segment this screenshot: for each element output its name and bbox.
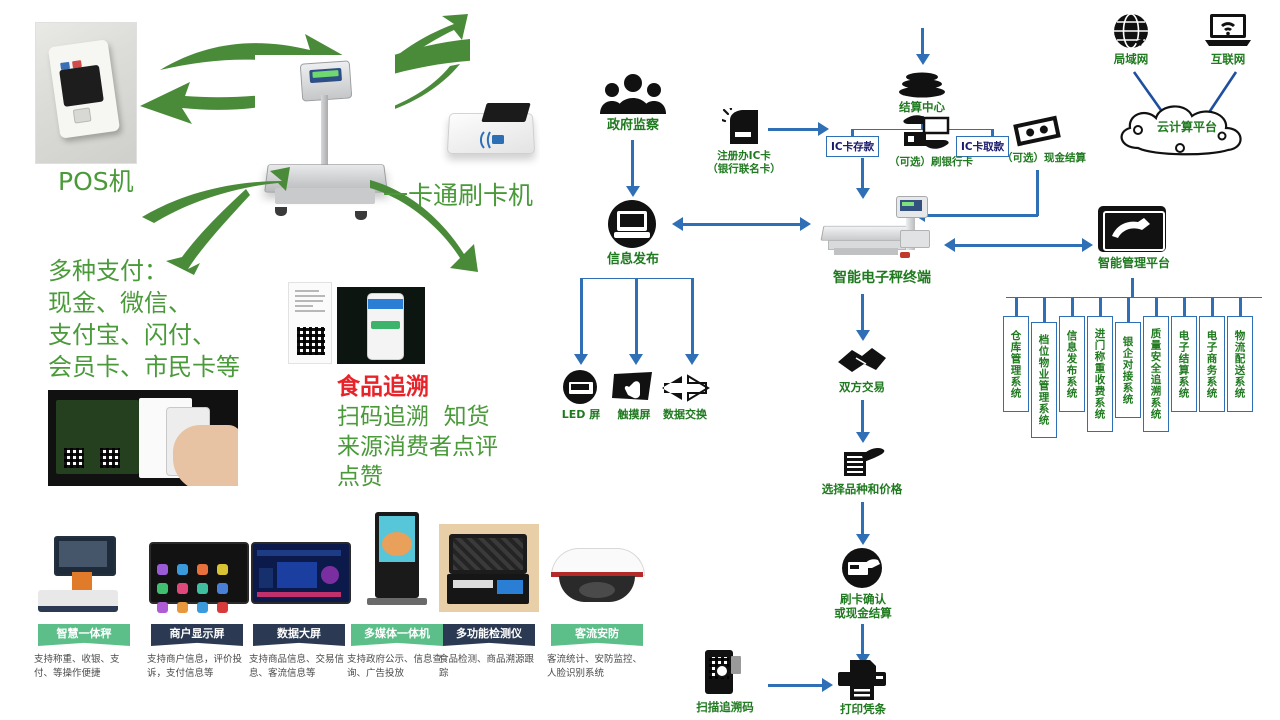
cash-banknote-icon xyxy=(1012,114,1062,148)
receipt-qr-code xyxy=(297,327,325,355)
bracket-drop-right xyxy=(691,278,694,356)
food-traceability-block: 食品追溯 扫码追溯 知货 来源消费者点评 点赞 xyxy=(337,372,498,492)
system-box[interactable]: 电子商务系统 xyxy=(1199,316,1225,412)
product-badge: 多功能检测仪 xyxy=(443,624,535,646)
product-badge: 多媒体一体机 xyxy=(351,624,443,646)
hand xyxy=(173,425,238,486)
arrow-scale-to-deal xyxy=(861,294,864,332)
product-image xyxy=(32,528,136,614)
traceability-line: 来源消费者点评 xyxy=(337,432,498,462)
product-card: 数据大屏 支持商品信息、交易信息、客流信息等 xyxy=(247,528,351,682)
bank-card-label: （可选）刷银行卡 xyxy=(872,156,990,169)
touch-screen-icon xyxy=(612,370,656,404)
systems-drop xyxy=(1127,297,1130,323)
internet-label: 互联网 xyxy=(1200,52,1256,66)
print-receipt-label: 打印凭条 xyxy=(826,702,900,716)
traceability-line: 点赞 xyxy=(337,462,498,492)
product-image xyxy=(145,528,249,614)
payment-line: 支付宝、闪付、 xyxy=(48,319,240,351)
register-ic-card-label: 注册办IC卡 （银行联名卡） xyxy=(692,150,796,176)
arrow-head-left xyxy=(944,238,955,252)
data-exchange-icon xyxy=(660,372,710,404)
info-release-label: 信息发布 xyxy=(588,252,678,268)
product-image xyxy=(437,522,541,614)
arrow-head-down xyxy=(856,330,870,341)
pos-keypad xyxy=(59,50,96,66)
product-image xyxy=(345,512,449,614)
pos-scanner-slot xyxy=(72,107,91,123)
product-description: 食品检测、商品溯源跟踪 xyxy=(437,653,541,682)
product-card: 智慧一体秤 支持称重、收银、支付、等操作便捷 xyxy=(32,528,136,682)
phone-pay-button xyxy=(371,321,401,329)
pos-machine-photo xyxy=(35,22,137,164)
system-box[interactable]: 信息发布系统 xyxy=(1059,316,1085,412)
system-box[interactable]: 电子结算系统 xyxy=(1171,316,1197,412)
scale-display-screen xyxy=(309,69,342,83)
swipe-confirm-icon xyxy=(842,548,882,588)
arrow-into-settlement xyxy=(921,28,924,56)
tablet-qr-code xyxy=(100,448,120,468)
systems-drop xyxy=(1239,297,1242,317)
scan-trace-code-icon xyxy=(705,650,741,696)
arrow-register-to-icdeposit xyxy=(768,128,820,131)
arrow-choose-to-swipe xyxy=(861,502,864,536)
mobile-payment-photo xyxy=(337,287,425,364)
government-label: 政府监察 xyxy=(588,118,678,134)
systems-drop xyxy=(1015,297,1018,317)
system-box[interactable]: 档位物业管理系统 xyxy=(1031,322,1057,438)
government-people-icon xyxy=(600,72,666,114)
arrow-swipe-to-print xyxy=(861,624,864,656)
arrow-head-left xyxy=(672,217,683,231)
screenshot-root: POS机 一卡通刷卡机 多种支付： 现金、微信、 支付宝、闪付、 会员卡、市民卡… xyxy=(0,0,1280,720)
receipt-photo xyxy=(288,282,332,364)
product-card: 多媒体一体机 支持政府公示、信息查询、广告投放 xyxy=(345,512,449,682)
settlement-center-coins-icon xyxy=(898,72,946,98)
arrow-head-down xyxy=(685,354,699,365)
scan-trace-code-label: 扫描追溯码 xyxy=(687,700,763,714)
phone-app-header xyxy=(368,299,403,309)
systems-drop xyxy=(1211,297,1214,317)
payment-line: 现金、微信、 xyxy=(48,287,240,319)
product-card: 客流安防 客流统计、安防监控、人脸识别系统 xyxy=(545,540,649,682)
arrow-scale-platform xyxy=(955,244,1085,247)
arrow-head-down xyxy=(574,354,588,365)
lan-label: 局域网 xyxy=(1105,52,1157,66)
arrow-head-right xyxy=(1082,238,1093,252)
choose-goods-label: 选择品种和价格 xyxy=(806,482,918,496)
data-exchange-label: 数据交换 xyxy=(654,408,716,422)
lan-globe-icon xyxy=(1112,12,1150,50)
arrow-head-right xyxy=(822,678,833,692)
payment-methods-block: 多种支付： 现金、微信、 支付宝、闪付、 会员卡、市民卡等 xyxy=(48,255,240,383)
systems-drop xyxy=(1099,297,1102,317)
arrow-cash-down xyxy=(1036,170,1039,216)
systems-drop xyxy=(1183,297,1186,317)
smart-scale-terminal-label: 智能电子秤终端 xyxy=(802,270,962,288)
led-screen-label: LED 屏 xyxy=(552,408,610,422)
bracket-drop-left xyxy=(580,278,583,356)
product-badge: 智慧一体秤 xyxy=(38,624,130,646)
product-card: 商户显示屏 支持商户信息，评价投诉，支付信息等 xyxy=(145,528,249,682)
arrow-head-right xyxy=(800,217,811,231)
pos-screen xyxy=(60,64,104,106)
arrow-head-down xyxy=(856,432,870,443)
system-box[interactable]: 仓库管理系统 xyxy=(1003,316,1029,412)
cloud-platform-label: 云计算平台 xyxy=(1132,120,1242,135)
nfc-wave-icon xyxy=(474,126,508,154)
product-description: 支持称重、收银、支付、等操作便捷 xyxy=(32,653,136,682)
bank-card-swipe-icon xyxy=(902,110,950,154)
systems-drop xyxy=(1071,297,1074,317)
system-box[interactable]: 银企对接系统 xyxy=(1115,322,1141,418)
swipe-confirm-label: 刷卡确认 或现金结算 xyxy=(812,592,914,621)
cash-settle-label: （可选）现金结算 xyxy=(984,152,1104,165)
register-ic-card-icon xyxy=(722,108,764,146)
scale-foot xyxy=(355,211,367,220)
ic-deposit-box[interactable]: IC卡存款 xyxy=(826,136,879,157)
deal-label: 双方交易 xyxy=(822,380,902,394)
arrow-head-down xyxy=(916,54,930,65)
select-goods-icon xyxy=(840,446,886,478)
product-description: 客流统计、安防监控、人脸识别系统 xyxy=(545,653,649,682)
tablet-and-phone-photo xyxy=(48,390,238,486)
system-box[interactable]: 质量安全追溯系统 xyxy=(1143,316,1169,432)
payment-line: 会员卡、市民卡等 xyxy=(48,351,240,383)
arrow-head-down xyxy=(626,186,640,197)
card-reader-screen xyxy=(481,103,531,122)
arrow-head-down xyxy=(856,534,870,545)
phone-body xyxy=(367,293,404,360)
product-description: 支持政府公示、信息查询、广告投放 xyxy=(345,653,449,682)
systems-drop xyxy=(1155,297,1158,317)
arrow-head-right xyxy=(818,122,829,136)
systems-drop xyxy=(1043,297,1046,323)
product-badge: 商户显示屏 xyxy=(151,624,243,646)
printer-icon xyxy=(836,660,888,700)
arrow-cash-left xyxy=(925,214,1038,217)
payment-line: 多种支付： xyxy=(48,255,240,287)
platform-stem xyxy=(1131,278,1134,298)
arrow-government-to-info xyxy=(631,140,634,188)
tablet-qr-code xyxy=(64,448,84,468)
smart-mgmt-platform-label: 智能管理平台 xyxy=(1082,256,1186,271)
info-release-icon xyxy=(608,200,656,248)
smart-mgmt-platform-icon xyxy=(1098,206,1166,252)
arrow-head-down xyxy=(629,354,643,365)
system-box[interactable]: 物流配送系统 xyxy=(1227,316,1253,412)
product-description: 支持商户信息，评价投诉，支付信息等 xyxy=(145,653,249,682)
arrow-deal-to-choose xyxy=(861,400,864,434)
product-image xyxy=(545,540,649,614)
traceability-heading: 食品追溯 xyxy=(337,372,498,402)
arrow-scan-to-print xyxy=(768,684,824,687)
allinone-card-reader-label: 一卡通刷卡机 xyxy=(383,182,533,211)
smart-scale-terminal-icon xyxy=(820,196,940,268)
system-box[interactable]: 进门称重收费系统 xyxy=(1087,316,1113,432)
arrow-icdeposit-to-scale-line xyxy=(861,158,864,190)
product-badge: 客流安防 xyxy=(551,624,643,646)
arrow-info-scale xyxy=(683,223,803,226)
product-badge: 数据大屏 xyxy=(253,624,345,646)
product-card: 多功能检测仪 食品检测、商品溯源跟踪 xyxy=(437,522,541,682)
card-reader-photo xyxy=(440,90,540,170)
led-screen-icon xyxy=(563,370,597,404)
product-description: 支持商品信息、交易信息、客流信息等 xyxy=(247,653,351,682)
handshake-icon xyxy=(836,344,888,376)
product-image xyxy=(247,528,351,614)
pos-body xyxy=(48,39,120,139)
internet-laptop-icon xyxy=(1205,12,1251,48)
scale-pole xyxy=(321,95,328,167)
traceability-line: 扫码追溯 知货 xyxy=(337,402,498,432)
bracket-drop-mid xyxy=(635,278,638,356)
pos-machine-label: POS机 xyxy=(58,168,134,197)
